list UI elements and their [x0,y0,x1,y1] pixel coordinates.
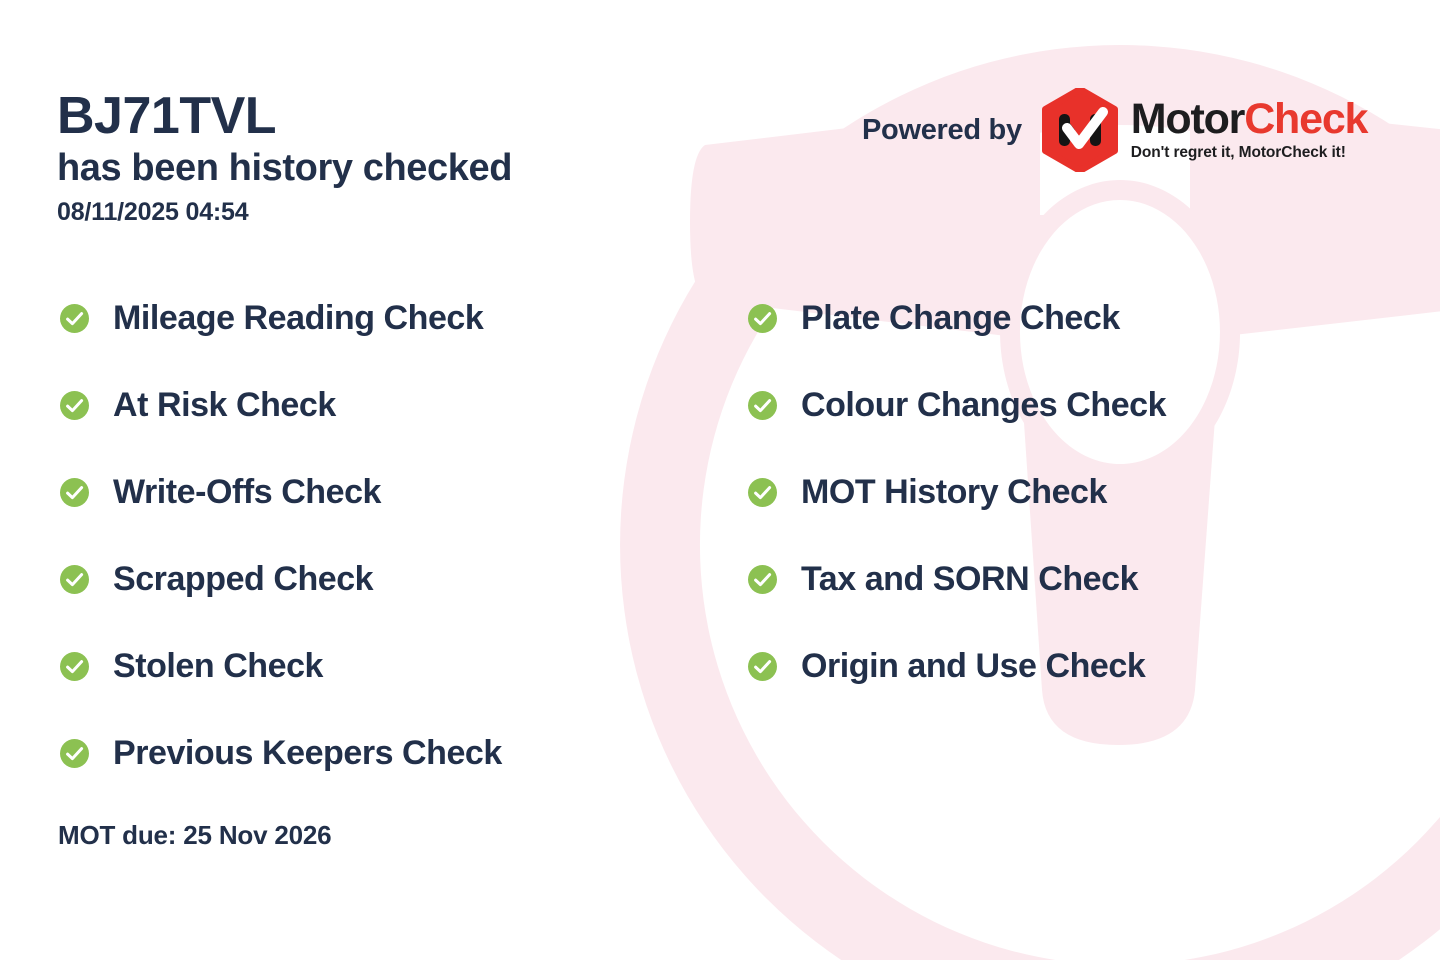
check-label: At Risk Check [113,388,336,422]
check-list-right: Plate Change Check Colour Changes Check … [748,300,1166,684]
check-label: Plate Change Check [801,301,1120,335]
check-list-left: Mileage Reading Check At Risk Check Writ… [60,300,502,771]
list-item: Write-Offs Check [60,474,502,510]
motorcheck-hexagon-m-check-icon [1042,88,1118,172]
history-check-card: BJ71TVL has been history checked 08/11/2… [0,0,1440,960]
list-item: Colour Changes Check [748,387,1166,423]
check-circle-icon [748,304,777,333]
check-circle-icon [748,652,777,681]
check-circle-icon [748,565,777,594]
check-circle-icon [60,739,89,768]
powered-by-label: Powered by [862,114,1022,147]
list-item: Scrapped Check [60,561,502,597]
list-item: At Risk Check [60,387,502,423]
list-item: Plate Change Check [748,300,1166,336]
check-circle-icon [60,652,89,681]
wordmark-motor: Motor [1131,95,1244,143]
check-label: Scrapped Check [113,562,373,596]
vehicle-header: BJ71TVL has been history checked 08/11/2… [57,90,512,227]
check-label: MOT History Check [801,475,1107,509]
list-item: Tax and SORN Check [748,561,1166,597]
check-label: Origin and Use Check [801,649,1145,683]
check-label: Mileage Reading Check [113,301,483,335]
motorcheck-wordmark: MotorCheck Don't regret it, MotorCheck i… [1131,98,1367,162]
check-circle-icon [748,391,777,420]
check-label: Colour Changes Check [801,388,1166,422]
check-circle-icon [60,391,89,420]
list-item: Stolen Check [60,648,502,684]
check-circle-icon [748,478,777,507]
powered-by-block: Powered by MotorCheck Don't regret it, M… [862,88,1367,172]
list-item: Previous Keepers Check [60,735,502,771]
check-label: Stolen Check [113,649,323,683]
list-item: Origin and Use Check [748,648,1166,684]
check-label: Previous Keepers Check [113,736,502,770]
brand-tagline: Don't regret it, MotorCheck it! [1131,144,1367,162]
page-title: has been history checked [57,146,512,191]
check-timestamp: 08/11/2025 04:54 [57,198,512,227]
check-circle-icon [60,478,89,507]
list-item: MOT History Check [748,474,1166,510]
registration-plate: BJ71TVL [57,90,512,143]
check-label: Tax and SORN Check [801,562,1138,596]
mot-due-text: MOT due: 25 Nov 2026 [58,820,331,851]
check-circle-icon [60,304,89,333]
wordmark-check: Check [1244,95,1367,143]
check-circle-icon [60,565,89,594]
check-label: Write-Offs Check [113,475,381,509]
list-item: Mileage Reading Check [60,300,502,336]
